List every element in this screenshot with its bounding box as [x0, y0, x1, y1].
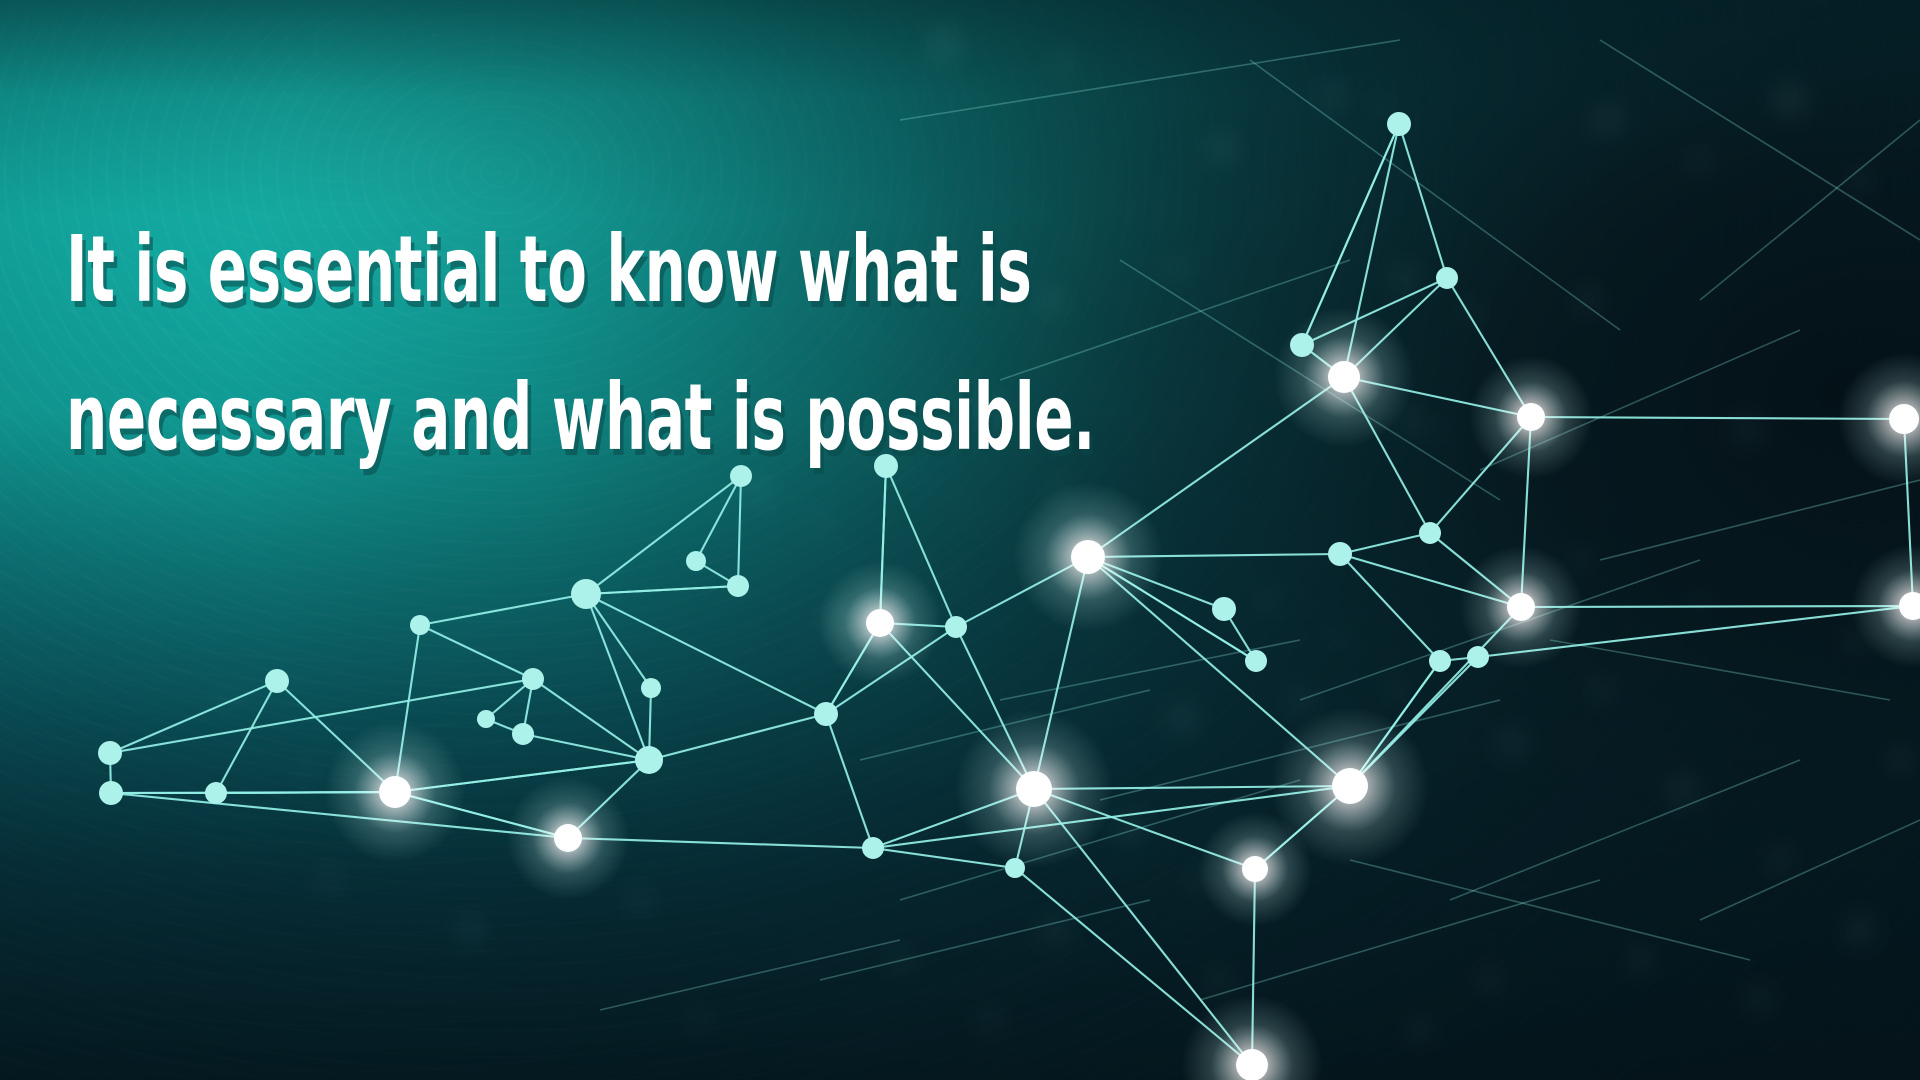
network-edge: [649, 714, 826, 760]
network-node: [641, 678, 661, 698]
network-node: [730, 465, 752, 487]
network-node: [1236, 1049, 1268, 1080]
network-node: [410, 615, 430, 635]
network-node: [1245, 650, 1267, 672]
network-node: [379, 776, 411, 808]
network-edge: [586, 594, 651, 688]
network-edge: [1399, 124, 1447, 278]
node-network-graphic: [0, 0, 1920, 1080]
network-edge-background: [1550, 640, 1890, 700]
network-edge: [586, 586, 738, 594]
network-node: [1517, 403, 1545, 431]
network-node: [686, 551, 706, 571]
network-node: [1212, 597, 1236, 621]
network-edge-background: [1700, 120, 1920, 300]
network-node: [814, 702, 838, 726]
network-node: [265, 669, 289, 693]
network-node: [727, 575, 749, 597]
network-edge: [738, 476, 741, 586]
network-node: [99, 781, 123, 805]
network-edge-background: [1350, 860, 1750, 960]
network-edge: [110, 681, 277, 753]
network-edge: [110, 679, 533, 753]
network-node: [477, 710, 495, 728]
network-edge-background: [1700, 820, 1920, 920]
network-node: [1328, 361, 1360, 393]
network-edge: [216, 681, 277, 793]
network-node: [1071, 540, 1105, 574]
network-node: [522, 668, 544, 690]
network-node: [874, 454, 898, 478]
network-edge: [586, 594, 649, 760]
network-node: [1429, 650, 1451, 672]
network-node: [1242, 856, 1268, 882]
network-node: [1290, 333, 1314, 357]
network-edge: [586, 594, 826, 714]
network-node: [1889, 404, 1919, 434]
network-node: [1387, 112, 1411, 136]
quote-banner: It is essential to know what is necessar…: [0, 0, 1920, 1080]
network-node: [1016, 771, 1052, 807]
network-edge-background: [600, 940, 900, 1010]
network-edge-background: [900, 40, 1400, 120]
network-node: [862, 837, 884, 859]
network-node: [1005, 858, 1025, 878]
network-edge: [586, 476, 741, 594]
network-node: [1328, 542, 1352, 566]
network-node: [1436, 267, 1458, 289]
network-edge-background: [1450, 760, 1800, 900]
network-node: [98, 741, 122, 765]
network-edge-background: [1600, 40, 1920, 240]
network-edge: [420, 594, 586, 625]
network-node: [571, 579, 601, 609]
network-node: [945, 616, 967, 638]
network-node: [512, 723, 534, 745]
network-node: [205, 782, 227, 804]
network-node: [1419, 522, 1441, 544]
network-node: [1332, 768, 1368, 804]
network-node: [635, 746, 663, 774]
network-edge: [1340, 533, 1430, 554]
network-node: [866, 609, 894, 637]
network-node: [554, 824, 582, 852]
network-node: [1467, 646, 1489, 668]
network-edge-background: [1600, 480, 1920, 560]
network-node: [1507, 593, 1535, 621]
network-edge: [826, 714, 873, 848]
network-edge: [420, 625, 533, 679]
network-edge: [696, 476, 741, 561]
network-edge: [1340, 554, 1440, 661]
